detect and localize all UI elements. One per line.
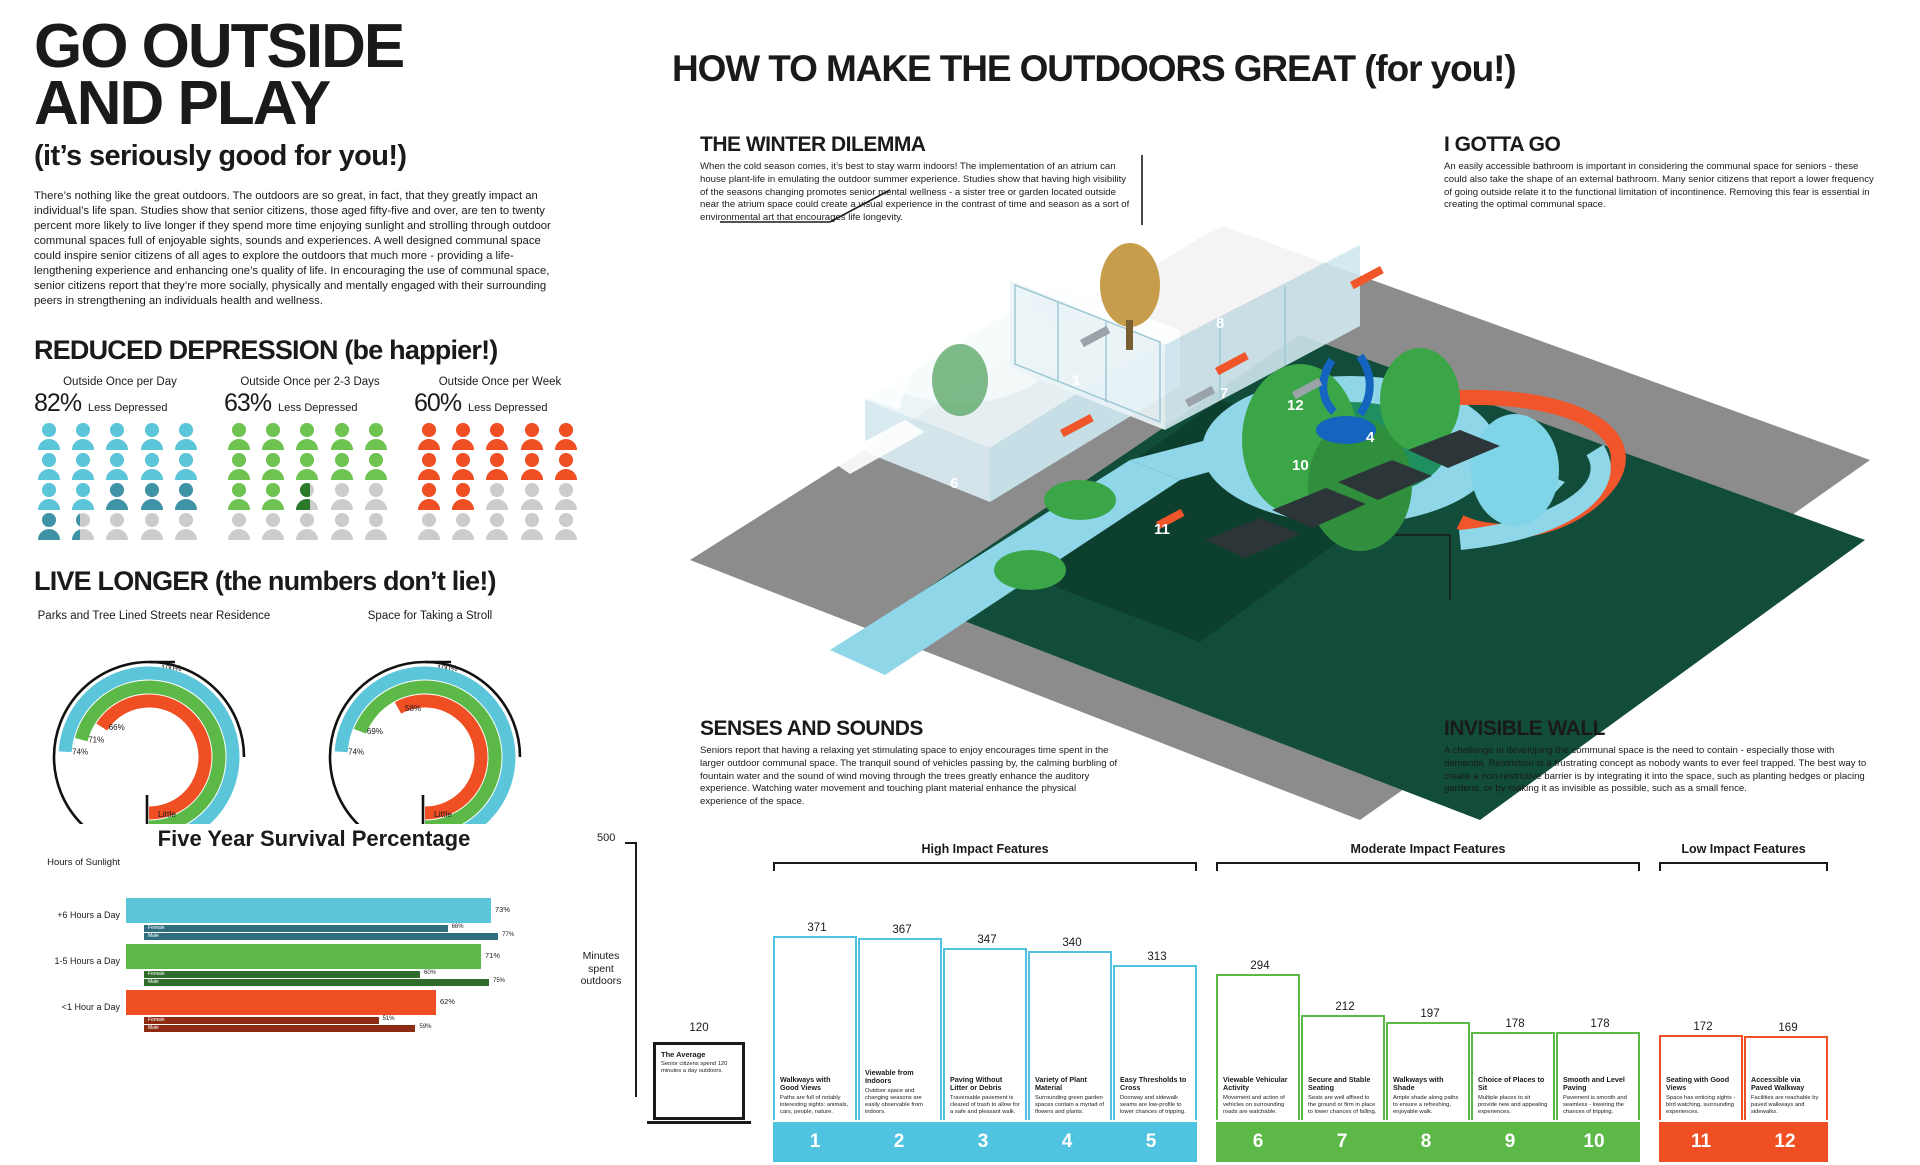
- radial-legend-little: Little: [158, 809, 176, 819]
- five-year-chart: Hours of Sunlight +6 Hours a Day73%Femal…: [34, 860, 564, 1020]
- impact-bar-value: 371: [775, 922, 859, 934]
- impact-bar-value: 347: [945, 934, 1029, 946]
- impact-bar-desc: Pavement is smooth and seamless - loweri…: [1563, 1095, 1633, 1116]
- impact-bar-title: Smooth and Level Paving: [1563, 1076, 1633, 1093]
- radial-legend-some: Some: [158, 823, 180, 824]
- block-senses-and-sounds: SENSES AND SOUNDS Seniors report that ha…: [700, 717, 1120, 809]
- depression-note: Less Depressed: [278, 402, 358, 414]
- radial-charts: Parks and Tree Lined Streets near Reside…: [34, 609, 594, 824]
- depression-group-label: Outside Once per 2-3 Days: [224, 376, 396, 388]
- impact-bar-desc: Space has enticing sights - bird watchin…: [1666, 1095, 1736, 1116]
- five-year-sublabel: Female: [148, 1018, 165, 1024]
- radial-value-label: 74%: [348, 748, 364, 757]
- depression-group-label: Outside Once per Day: [34, 376, 206, 388]
- person-icon: [482, 483, 512, 510]
- impact-bar-desc: Doorway and sidewalk seams are low-profi…: [1120, 1095, 1190, 1116]
- depression-group: Outside Once per Week 60% Less Depressed: [414, 376, 586, 540]
- impact-bar-desc: Paths are full of notably interesting si…: [780, 1095, 850, 1116]
- impact-number-strip: 678910: [1216, 1122, 1640, 1162]
- impact-bar-number[interactable]: 12: [1743, 1131, 1827, 1153]
- person-icon: [292, 483, 322, 510]
- person-icon: [482, 513, 512, 540]
- block-body: Seniors report that having a relaxing ye…: [700, 745, 1120, 809]
- person-icon: [171, 423, 201, 450]
- five-year-category: 1-5 Hours a Day: [34, 956, 120, 966]
- five-year-subvalue: 59%: [419, 1024, 431, 1030]
- five-year-bar: [126, 898, 491, 923]
- intro-paragraph: There’s nothing like the great outdoors.…: [34, 189, 564, 309]
- person-icon: [292, 513, 322, 540]
- radial-legend-little: Little: [434, 809, 452, 819]
- radial-chart-canvas: 100%74%Plenty71%Some66%Little: [39, 639, 269, 824]
- person-icon: [102, 453, 132, 480]
- person-icon: [517, 483, 547, 510]
- impact-bar: 172Seating with Good ViewsSpace has enti…: [1659, 1035, 1743, 1120]
- person-icon: [327, 423, 357, 450]
- five-year-category: <1 Hour a Day: [34, 1002, 120, 1012]
- person-icon: [361, 453, 391, 480]
- impact-bar-number[interactable]: 4: [1025, 1131, 1109, 1153]
- person-icon: [102, 483, 132, 510]
- impact-bar-number[interactable]: 10: [1552, 1131, 1636, 1153]
- five-year-title: Five Year Survival Percentage: [34, 826, 594, 852]
- impact-bar: 178Smooth and Level PavingPavement is sm…: [1556, 1032, 1640, 1120]
- impact-bar-desc: Seats are well affixed to the ground or …: [1308, 1095, 1378, 1116]
- five-year-bar: [126, 944, 481, 969]
- radial-value-label: 71%: [88, 736, 104, 745]
- depression-note: Less Depressed: [468, 402, 548, 414]
- block-body: An easily accessible bathroom is importa…: [1444, 161, 1874, 212]
- block-title: I GOTTA GO: [1444, 133, 1874, 157]
- title-line-2: AND PLAY: [34, 75, 594, 132]
- person-icon: [102, 513, 132, 540]
- person-icon: [224, 513, 254, 540]
- person-icon: [68, 513, 98, 540]
- impact-bar-title: Viewable Vehicular Activity: [1223, 1076, 1293, 1093]
- impact-bar-title: Walkways with Shade: [1393, 1076, 1463, 1093]
- person-icon: [414, 453, 444, 480]
- impact-bar-value: 178: [1473, 1018, 1557, 1030]
- reduced-depression-heading: REDUCED DEPRESSION (be happier!): [34, 335, 594, 366]
- svg-text:12: 12: [1287, 397, 1304, 414]
- impact-bar-title: Secure and Stable Seating: [1308, 1076, 1378, 1093]
- radial-value-label: 69%: [367, 727, 383, 736]
- person-icon: [448, 423, 478, 450]
- impact-bar: 197Walkways with ShadeAmple shade along …: [1386, 1022, 1470, 1120]
- impact-bar: 212Secure and Stable SeatingSeats are we…: [1301, 1015, 1385, 1120]
- person-icon: [292, 423, 322, 450]
- title-line-1: GO OUTSIDE: [34, 18, 594, 75]
- bars-container: 371Walkways with Good ViewsPaths are ful…: [575, 832, 1920, 1162]
- impact-bar-number[interactable]: 2: [857, 1131, 941, 1153]
- person-icon: [137, 423, 167, 450]
- impact-bar-value: 340: [1030, 937, 1114, 949]
- five-year-subvalue: 66%: [452, 924, 464, 930]
- person-icon: [551, 453, 581, 480]
- five-year-sublabel: Male: [148, 1026, 159, 1032]
- five-year-subvalue: 51%: [383, 1016, 395, 1022]
- five-year-category: +6 Hours a Day: [34, 910, 120, 920]
- live-longer-heading: LIVE LONGER (the numbers don’t lie!): [34, 566, 594, 597]
- person-icon: [361, 483, 391, 510]
- radial-chart-stroll: Space for Taking a Stroll 100%74%Plenty6…: [310, 609, 550, 824]
- depression-group-label: Outside Once per Week: [414, 376, 586, 388]
- depression-group: Outside Once per Day 82% Less Depressed: [34, 376, 206, 540]
- five-year-sublabel: Male: [148, 934, 159, 940]
- impact-features-bar-chart: 500 Minutes spent outdoors 120 The Avera…: [575, 832, 1920, 1162]
- person-icon: [448, 513, 478, 540]
- five-year-bar: [126, 990, 436, 1015]
- person-icon: [34, 513, 64, 540]
- pictogram-grid: [414, 423, 582, 540]
- person-icon: [34, 483, 64, 510]
- depression-note: Less Depressed: [88, 402, 168, 414]
- person-icon: [102, 423, 132, 450]
- radial-value-label: 66%: [109, 723, 125, 732]
- impact-bar-number[interactable]: 6: [1216, 1131, 1300, 1153]
- five-year-row: 1-5 Hours a Day71%Female60%Male75%: [34, 942, 564, 988]
- five-year-subvalue: 77%: [502, 932, 514, 938]
- depression-percent: 82%: [34, 389, 81, 418]
- impact-bar: 169Accessible via Paved WalkwayFacilitie…: [1744, 1036, 1828, 1120]
- five-year-row: +6 Hours a Day73%Female66%Male77%: [34, 896, 564, 942]
- person-icon: [258, 513, 288, 540]
- pictogram-grid: [224, 423, 392, 540]
- five-year-subbar-male: [144, 979, 489, 986]
- person-icon: [171, 483, 201, 510]
- radial-value-label: 74%: [72, 748, 88, 757]
- impact-bar-number[interactable]: 7: [1300, 1131, 1384, 1153]
- person-icon: [34, 453, 64, 480]
- depression-percent: 63%: [224, 389, 271, 418]
- impact-bar-value: 169: [1746, 1022, 1830, 1034]
- block-invisible-wall: INVISIBLE WALL A challenge in developing…: [1444, 717, 1874, 796]
- person-icon: [448, 483, 478, 510]
- block-title: INVISIBLE WALL: [1444, 717, 1874, 741]
- person-icon: [361, 513, 391, 540]
- impact-bar-desc: Ample shade along paths to ensure a refr…: [1393, 1095, 1463, 1116]
- person-icon: [171, 513, 201, 540]
- impact-bar: 347Paving Without Litter or DebrisTraver…: [943, 948, 1027, 1120]
- impact-bar-number[interactable]: 8: [1384, 1131, 1468, 1153]
- person-icon: [292, 453, 322, 480]
- person-icon: [551, 423, 581, 450]
- pictogram-grid: [34, 423, 202, 540]
- impact-bar-title: Choice of Places to Sit: [1478, 1076, 1548, 1093]
- impact-bar-number[interactable]: 1: [773, 1131, 857, 1153]
- person-icon: [517, 453, 547, 480]
- page-subtitle: (it’s seriously good for you!): [34, 140, 594, 173]
- person-icon: [258, 453, 288, 480]
- impact-bar-value: 294: [1218, 960, 1302, 972]
- person-icon: [68, 423, 98, 450]
- person-icon: [517, 423, 547, 450]
- infographic-page: GO OUTSIDE AND PLAY (it’s seriously good…: [0, 0, 1920, 1165]
- radial-value-label: 58%: [405, 704, 421, 713]
- radial-segment-some: [81, 687, 219, 824]
- person-icon: [258, 483, 288, 510]
- svg-text:4: 4: [1366, 429, 1375, 446]
- block-body: A challenge in developing the communal s…: [1444, 745, 1874, 796]
- block-body: When the cold season comes, it’s best to…: [700, 161, 1130, 225]
- impact-bar-value: 197: [1388, 1008, 1472, 1020]
- person-icon: [414, 423, 444, 450]
- impact-bar-title: Easy Thresholds to Cross: [1120, 1076, 1190, 1093]
- svg-text:10: 10: [1292, 457, 1309, 474]
- impact-bar-desc: Traversable pavement is cleared of trash…: [950, 1095, 1020, 1116]
- svg-text:1: 1: [1072, 372, 1080, 389]
- person-icon: [482, 423, 512, 450]
- radial-segment-little: [102, 701, 205, 813]
- depression-percent: 60%: [414, 389, 461, 418]
- impact-bar: 371Walkways with Good ViewsPaths are ful…: [773, 936, 857, 1120]
- impact-bar-desc: Multiple places to sit provide new and a…: [1478, 1095, 1548, 1116]
- person-icon: [551, 483, 581, 510]
- person-icon: [137, 513, 167, 540]
- radial-chart-parks: Parks and Tree Lined Streets near Reside…: [34, 609, 274, 824]
- block-i-gotta-go: I GOTTA GO An easily accessible bathroom…: [1444, 133, 1874, 212]
- person-icon: [224, 423, 254, 450]
- svg-text:7: 7: [1220, 385, 1228, 402]
- five-year-subbar-male: [144, 1025, 415, 1032]
- impact-bar-desc: Surrounding green garden spaces contain …: [1035, 1095, 1105, 1116]
- impact-bar-value: 313: [1115, 951, 1199, 963]
- person-icon: [414, 483, 444, 510]
- five-year-subvalue: 75%: [493, 978, 505, 984]
- person-icon: [327, 483, 357, 510]
- five-year-subbar-female: [144, 1017, 379, 1024]
- impact-bar-title: Accessible via Paved Walkway: [1751, 1076, 1821, 1093]
- impact-bar-title: Walkways with Good Views: [780, 1076, 850, 1093]
- radial-segment-little: [398, 701, 481, 813]
- radial-chart-canvas: 100%74%Plenty69%Some58%Little: [315, 639, 545, 824]
- impact-bar-value: 172: [1661, 1021, 1745, 1033]
- person-icon: [137, 453, 167, 480]
- person-icon: [517, 513, 547, 540]
- five-year-value: 62%: [440, 997, 455, 1006]
- impact-bar-title: Variety of Plant Material: [1035, 1076, 1105, 1093]
- impact-bar-value: 367: [860, 924, 944, 936]
- radial-chart-title: Parks and Tree Lined Streets near Reside…: [34, 609, 274, 639]
- impact-number-strip: 1112: [1659, 1122, 1828, 1162]
- person-icon: [258, 423, 288, 450]
- impact-bar-title: Viewable from Indoors: [865, 1069, 935, 1086]
- person-icon: [137, 483, 167, 510]
- five-year-sublabel: Female: [148, 926, 165, 932]
- radial-legend-some: Some: [434, 823, 456, 824]
- impact-bar: 313Easy Thresholds to CrossDoorway and s…: [1113, 965, 1197, 1120]
- impact-bar: 178Choice of Places to SitMultiple place…: [1471, 1032, 1555, 1120]
- impact-bar-number[interactable]: 11: [1659, 1131, 1743, 1153]
- hours-of-sunlight-label: Hours of Sunlight: [34, 858, 120, 869]
- impact-bar-desc: Outdoor space and changing seasons are e…: [865, 1088, 935, 1116]
- person-icon: [361, 423, 391, 450]
- five-year-subbar-female: [144, 925, 448, 932]
- impact-bar: 294Viewable Vehicular ActivityMovement a…: [1216, 974, 1300, 1120]
- five-year-value: 71%: [485, 951, 500, 960]
- person-icon: [224, 483, 254, 510]
- svg-text:8: 8: [1216, 315, 1224, 332]
- person-icon: [327, 513, 357, 540]
- impact-bar-desc: Facilities are reachable by paved walkwa…: [1751, 1095, 1821, 1116]
- person-icon: [551, 513, 581, 540]
- impact-bar-number[interactable]: 9: [1468, 1131, 1552, 1153]
- person-icon: [34, 423, 64, 450]
- page-title: GO OUTSIDE AND PLAY: [34, 18, 594, 132]
- block-title: SENSES AND SOUNDS: [700, 717, 1120, 741]
- impact-bar-title: Seating with Good Views: [1666, 1076, 1736, 1093]
- person-icon: [482, 453, 512, 480]
- radial-chart-title: Space for Taking a Stroll: [310, 609, 550, 639]
- five-year-value: 73%: [495, 905, 510, 914]
- depression-groups: Outside Once per Day 82% Less Depressed …: [34, 376, 594, 540]
- block-winter-dilemma: THE WINTER DILEMMA When the cold season …: [700, 133, 1130, 225]
- person-icon: [68, 453, 98, 480]
- five-year-subvalue: 60%: [424, 970, 436, 976]
- svg-text:6: 6: [950, 475, 958, 492]
- left-column: GO OUTSIDE AND PLAY (it’s seriously good…: [34, 18, 594, 1020]
- svg-text:11: 11: [1154, 521, 1170, 538]
- impact-bar-title: Paving Without Litter or Debris: [950, 1076, 1020, 1093]
- impact-bar-value: 178: [1558, 1018, 1642, 1030]
- person-icon: [327, 453, 357, 480]
- person-icon: [224, 453, 254, 480]
- five-year-sublabel: Female: [148, 972, 165, 978]
- person-icon: [171, 453, 201, 480]
- five-year-sublabel: Male: [148, 980, 159, 986]
- five-year-subbar-male: [144, 933, 498, 940]
- person-icon: [414, 513, 444, 540]
- impact-bar-number[interactable]: 3: [941, 1131, 1025, 1153]
- impact-bar-number[interactable]: 5: [1109, 1131, 1193, 1153]
- depression-group: Outside Once per 2-3 Days 63% Less Depre…: [224, 376, 396, 540]
- impact-number-strip: 12345: [773, 1122, 1197, 1162]
- block-title: THE WINTER DILEMMA: [700, 133, 1130, 157]
- impact-bar-desc: Movement and action of vehicles on surro…: [1223, 1095, 1293, 1116]
- impact-bar: 367Viewable from IndoorsOutdoor space an…: [858, 938, 942, 1120]
- five-year-row: <1 Hour a Day62%Female51%Male59%: [34, 988, 564, 1034]
- impact-bar-value: 212: [1303, 1001, 1387, 1013]
- person-icon: [448, 453, 478, 480]
- right-headline: HOW TO MAKE THE OUTDOORS GREAT (for you!…: [672, 48, 1516, 90]
- person-icon: [68, 483, 98, 510]
- impact-bar: 340Variety of Plant MaterialSurrounding …: [1028, 951, 1112, 1120]
- five-year-subbar-female: [144, 971, 420, 978]
